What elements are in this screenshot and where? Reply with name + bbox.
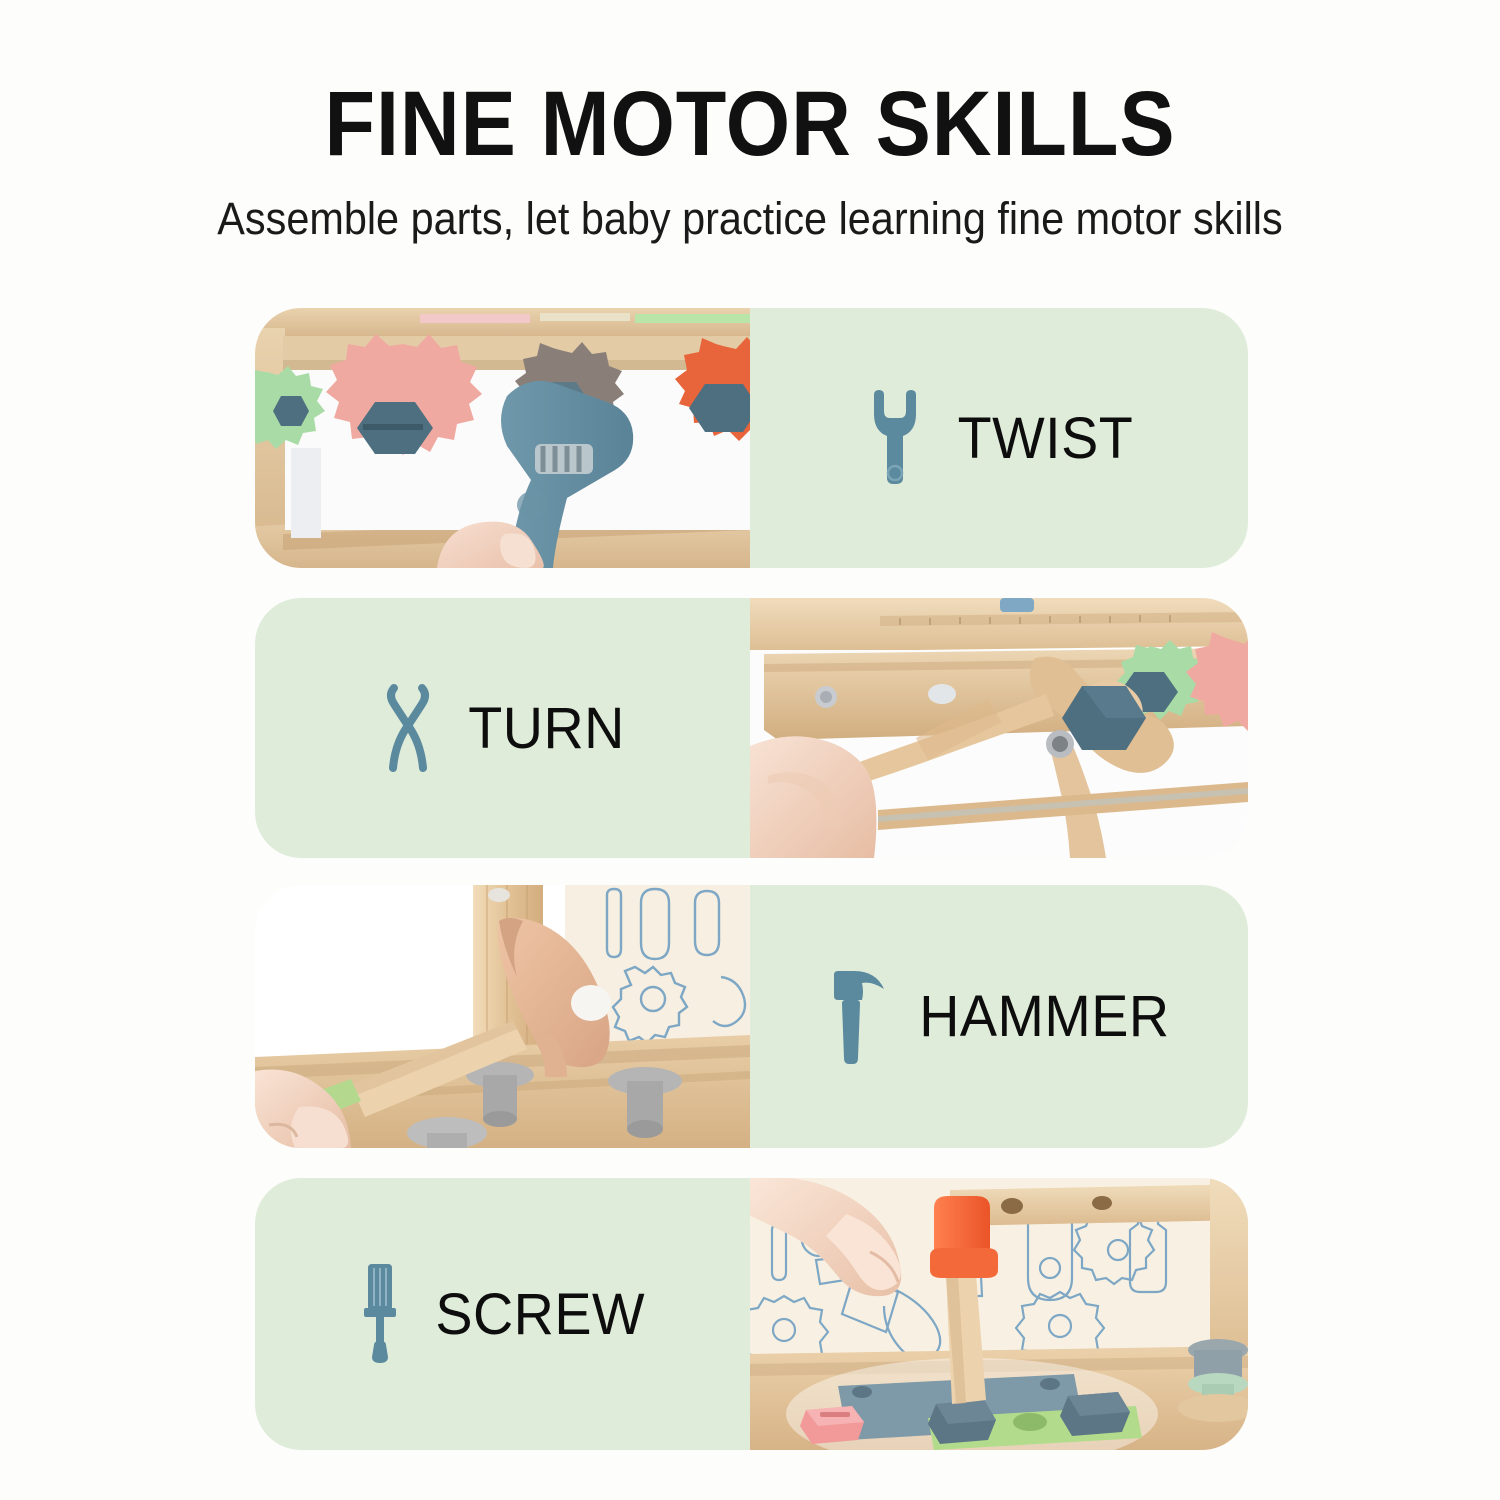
label-text-hammer: HAMMER: [919, 983, 1169, 1050]
label-pane-twist: TWIST: [750, 308, 1248, 568]
label-pane-screw: SCREW: [255, 1178, 750, 1450]
infographic-page: FINE MOTOR SKILLS Assemble parts, let ba…: [0, 0, 1500, 1500]
feature-row-turn: TURN: [255, 598, 1248, 858]
label-text-screw: SCREW: [436, 1281, 646, 1348]
feature-row-twist: TWIST: [255, 308, 1248, 568]
photo-gears-and-wrench-image: [255, 308, 750, 568]
header: FINE MOTOR SKILLS Assemble parts, let ba…: [0, 0, 1500, 241]
feature-rows: TWIST TURN: [255, 308, 1248, 1450]
photo-screwdriver-on-bolt-image: [750, 1178, 1248, 1450]
label-text-twist: TWIST: [957, 405, 1133, 472]
pliers-icon: [377, 679, 439, 777]
feature-row-screw: SCREW: [255, 1178, 1248, 1450]
label-text-turn: TURN: [468, 695, 625, 762]
screwdriver-icon: [355, 1262, 405, 1366]
photo-wooden-hammer-and-pegs: [255, 885, 750, 1148]
label-pane-turn: TURN: [255, 598, 750, 858]
feature-row-hammer: HAMMER: [255, 885, 1248, 1148]
page-subtitle: Assemble parts, let baby practice learni…: [60, 170, 1440, 241]
photo-wooden-pliers-on-nut: [750, 598, 1248, 858]
photo-wooden-hammer-and-pegs-image: [255, 885, 750, 1148]
hammer-icon: [824, 968, 888, 1066]
photo-wooden-pliers-on-nut-image: [750, 598, 1248, 858]
photo-gears-and-wrench: [255, 308, 750, 568]
label-pane-hammer: HAMMER: [750, 885, 1248, 1148]
wrench-icon: [862, 389, 928, 487]
page-title: FINE MOTOR SKILLS: [75, 0, 1425, 170]
photo-screwdriver-on-bolt: [750, 1178, 1248, 1450]
